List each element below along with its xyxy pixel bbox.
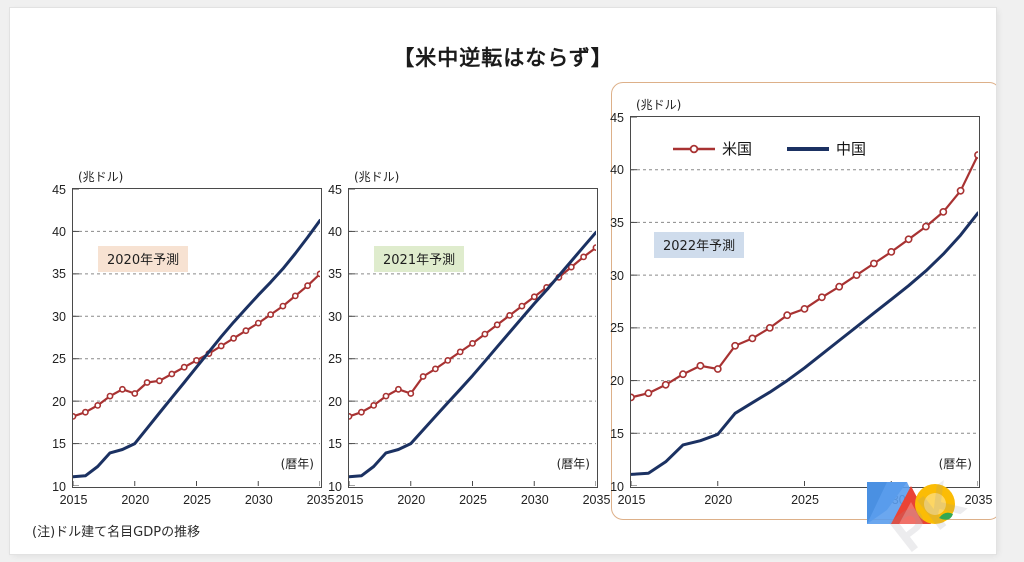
forecast-label-chart-2020: 2020年予測 — [98, 246, 188, 272]
y-axis-tick: 15 — [38, 437, 66, 451]
series-line-us — [631, 155, 978, 397]
chart-legend: 米国中国 — [672, 138, 866, 159]
y-axis-tick: 20 — [38, 395, 66, 409]
x-axis-tick: 2030 — [521, 493, 549, 507]
y-axis-tick: 15 — [596, 427, 624, 441]
plot-area — [348, 188, 598, 488]
x-axis-tick: 2020 — [121, 493, 149, 507]
x-axis-tick: 2035 — [965, 493, 993, 507]
y-axis-tick: 40 — [314, 225, 342, 239]
series-line-us — [349, 248, 596, 417]
forecast-label-chart-2022: 2022年予測 — [654, 232, 744, 258]
legend-swatch — [786, 142, 830, 156]
y-axis-tick: 10 — [38, 480, 66, 494]
y-axis-tick: 10 — [596, 480, 624, 494]
y-axis-unit-label: (兆ドル) — [78, 168, 123, 185]
y-axis-tick: 15 — [314, 437, 342, 451]
plot-svg — [631, 117, 978, 486]
corner-logo — [865, 466, 961, 528]
y-axis-tick: 25 — [38, 352, 66, 366]
y-axis-tick: 35 — [314, 267, 342, 281]
page-title: 【米中逆転はならず】 — [10, 42, 996, 72]
plot-area — [630, 116, 980, 488]
chart-chart-2020: 2020年予測(暦年) — [72, 188, 322, 488]
x-axis-tick: 2035 — [307, 493, 335, 507]
y-axis-tick: 35 — [38, 267, 66, 281]
chart-chart-2021: 2021年予測(暦年) — [348, 188, 598, 488]
y-axis-tick: 25 — [596, 321, 624, 335]
slide-card: 【米中逆転はならず】 (兆ドル)2020年予測(暦年)4540353025201… — [10, 8, 996, 554]
y-axis-tick: 40 — [596, 163, 624, 177]
y-axis-unit-label: (兆ドル) — [354, 168, 399, 185]
screenshot-root: 【米中逆転はならず】 (兆ドル)2020年予測(暦年)4540353025201… — [0, 0, 1024, 562]
x-axis-tick: 2025 — [791, 493, 819, 507]
x-axis-tick: 2015 — [618, 493, 646, 507]
x-axis-tick: 2020 — [397, 493, 425, 507]
slide-content: 【米中逆転はならず】 (兆ドル)2020年予測(暦年)4540353025201… — [10, 8, 996, 554]
legend-item-us: 米国 — [672, 138, 752, 159]
y-axis-unit-label: (兆ドル) — [636, 96, 681, 113]
legend-item-china: 中国 — [786, 138, 866, 159]
y-axis-tick: 30 — [38, 310, 66, 324]
x-axis-unit-label: (暦年) — [557, 455, 590, 472]
legend-swatch — [672, 142, 716, 156]
x-axis-tick: 2025 — [183, 493, 211, 507]
plot-svg — [73, 189, 320, 486]
forecast-label-chart-2021: 2021年予測 — [374, 246, 464, 272]
y-axis-tick: 30 — [314, 310, 342, 324]
y-axis-tick: 20 — [314, 395, 342, 409]
y-axis-tick: 30 — [596, 269, 624, 283]
y-axis-tick: 45 — [314, 183, 342, 197]
y-axis-tick: 40 — [38, 225, 66, 239]
x-axis-tick: 2025 — [459, 493, 487, 507]
plot-area — [72, 188, 322, 488]
x-axis-tick: 2015 — [336, 493, 364, 507]
x-axis-tick: 2015 — [60, 493, 88, 507]
y-axis-tick: 45 — [38, 183, 66, 197]
y-axis-tick: 35 — [596, 216, 624, 230]
y-axis-tick: 20 — [596, 374, 624, 388]
x-axis-tick: 2020 — [704, 493, 732, 507]
x-axis-tick: 2035 — [583, 493, 611, 507]
y-axis-tick: 25 — [314, 352, 342, 366]
x-axis-unit-label: (暦年) — [281, 455, 314, 472]
y-axis-tick: 45 — [596, 111, 624, 125]
chart-chart-2022: 2022年予測(暦年)米国中国 — [630, 116, 980, 488]
y-axis-tick: 10 — [314, 480, 342, 494]
legend-label: 中国 — [836, 138, 866, 159]
legend-label: 米国 — [722, 138, 752, 159]
x-axis-tick: 2030 — [245, 493, 273, 507]
footnote: (注)ドル建て名目GDPの推移 — [32, 521, 200, 540]
plot-svg — [349, 189, 596, 486]
